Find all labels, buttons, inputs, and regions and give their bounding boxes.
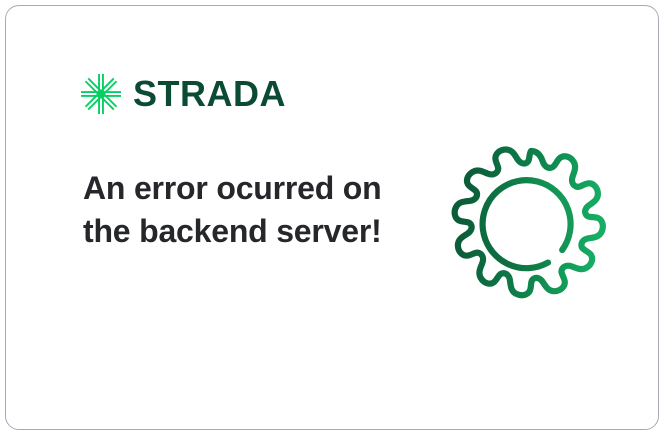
- error-headline: An error ocurred on the backend server!: [83, 167, 383, 253]
- gear-cog-icon: [446, 144, 616, 314]
- brand-wordmark: STRADA: [133, 76, 286, 112]
- error-card: STRADA An error ocurred on the backend s…: [5, 5, 659, 430]
- brand-logo: STRADA: [79, 72, 286, 116]
- strada-asterisk-icon: [79, 72, 123, 116]
- screen: STRADA An error ocurred on the backend s…: [0, 0, 666, 436]
